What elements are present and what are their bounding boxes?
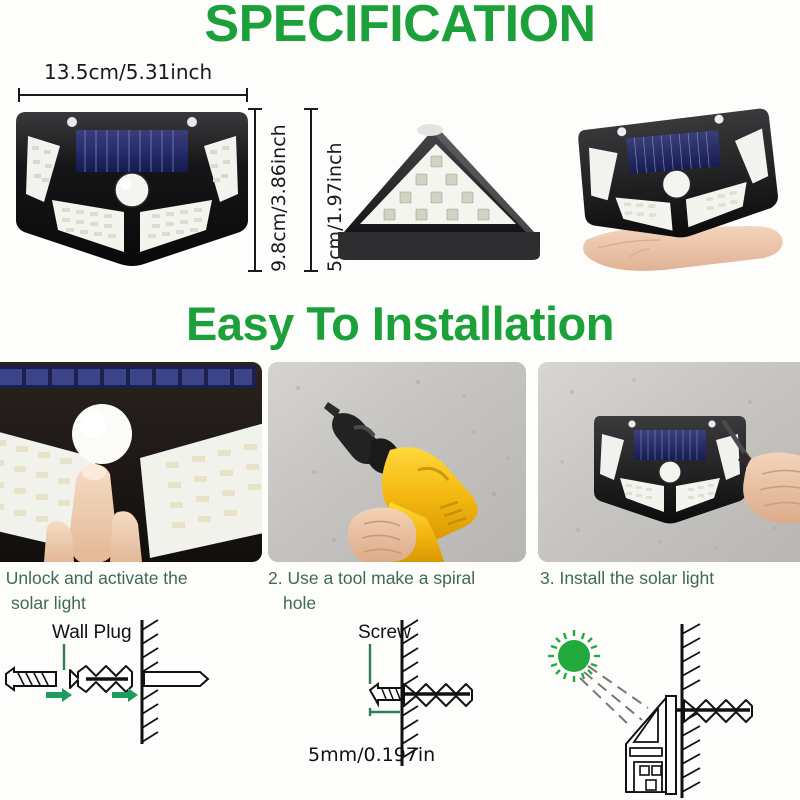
solar-light-front-view — [12, 102, 252, 274]
step-2-caption-line-2: hole — [268, 591, 518, 616]
product-spec-page: SPECIFICATION 13.5cm/5.31inch — [0, 0, 800, 800]
width-dimension-rule — [18, 94, 248, 96]
mounted-light-sunlight-diagram — [530, 616, 800, 800]
solar-light-side-view — [330, 120, 550, 275]
screw-into-plug-diagram — [290, 616, 540, 800]
step-3-caption-line-1: 3. Install the solar light — [540, 568, 714, 588]
step-3-caption: 3. Install the solar light — [540, 566, 800, 591]
mounting-light-on-wall-photo — [538, 362, 800, 562]
solar-light-in-hand — [568, 108, 794, 288]
specification-title: SPECIFICATION — [0, 0, 800, 54]
height-dimension-rule — [254, 108, 256, 272]
step-2-caption: 2. Use a tool make a spiral hole — [268, 566, 518, 616]
step-1-caption-line-1: . Unlock and activate the — [0, 568, 188, 588]
assembly-diagrams-row: Wall Plug — [0, 616, 800, 800]
height-dimension-label: 9.8cm/3.86inch — [268, 124, 290, 272]
step-1-caption-line-2: solar light — [0, 591, 246, 616]
width-dimension-label: 13.5cm/5.31inch — [44, 60, 212, 84]
step-2-caption-line-1: 2. Use a tool make a spiral — [268, 568, 475, 588]
cordless-drill-photo — [268, 362, 526, 562]
installation-steps-row — [0, 362, 800, 562]
finger-pressing-sensor-photo — [0, 362, 262, 562]
wall-plug-insertion-diagram — [0, 616, 300, 800]
specification-row: 13.5cm/5.31inch — [0, 60, 800, 290]
depth-dimension-rule — [310, 108, 312, 272]
installation-title: Easy To Installation — [0, 296, 800, 351]
step-1-caption: . Unlock and activate the solar light — [0, 566, 246, 616]
